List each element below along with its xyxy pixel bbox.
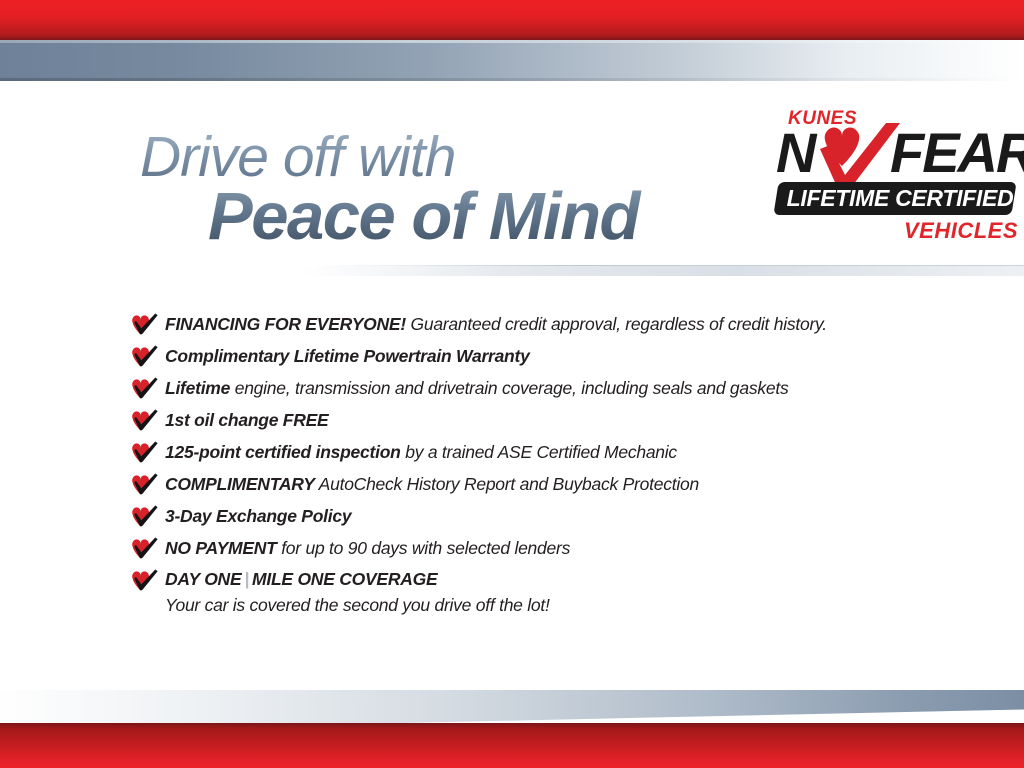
logo-certified-bar-text: LIFETIME CERTIFIED	[784, 186, 1016, 211]
heart-check-bullet-icon	[131, 345, 159, 367]
list-item-text: 3-Day Exchange Policy	[165, 506, 351, 526]
heart-check-bullet-icon	[131, 441, 159, 463]
list-item-bold: 1st oil change FREE	[165, 410, 328, 430]
list-item: NO PAYMENT for up to 90 days with select…	[131, 532, 931, 564]
top-red-band	[0, 0, 1024, 40]
list-item-bold: Complimentary Lifetime Powertrain Warran…	[165, 346, 530, 366]
heart-check-bullet-icon	[131, 569, 159, 591]
heart-check-bullet-icon	[131, 537, 159, 559]
logo-letter-n: N	[776, 125, 814, 181]
list-item: 1st oil change FREE	[131, 404, 931, 436]
logo-vehicles-text: VEHICLES	[904, 218, 1018, 244]
list-item-text: Complimentary Lifetime Powertrain Warran…	[165, 346, 530, 366]
list-item-bold: Lifetime	[165, 378, 230, 398]
list-item-text: 1st oil change FREE	[165, 410, 328, 430]
headline-line-2: Peace of Mind	[208, 182, 740, 252]
list-item-rest: by a trained ASE Certified Mechanic	[401, 442, 677, 462]
bottom-red-band	[0, 723, 1024, 768]
logo-word-fear: FEAR	[890, 125, 1024, 181]
benefits-list: FINANCING FOR EVERYONE! Guaranteed credi…	[131, 308, 931, 616]
list-item-text: COMPLIMENTARY AutoCheck History Report a…	[165, 474, 699, 494]
headline-line-1: Drive off with	[140, 128, 740, 186]
list-item-rest: Guaranteed credit approval, regardless o…	[406, 314, 827, 334]
list-item-bold: 125-point certified inspection	[165, 442, 401, 462]
heart-check-bullet-icon	[131, 377, 159, 399]
header-divider-line	[320, 265, 1024, 266]
list-item: Complimentary Lifetime Powertrain Warran…	[131, 340, 931, 372]
list-item: COMPLIMENTARY AutoCheck History Report a…	[131, 468, 931, 500]
list-item-text: DAY ONE|MILE ONE COVERAGE	[165, 569, 437, 589]
list-item-bold: COMPLIMENTARY	[165, 474, 315, 494]
list-item-text: NO PAYMENT for up to 90 days with select…	[165, 538, 570, 558]
list-item: 3-Day Exchange Policy	[131, 500, 931, 532]
list-item-text: Lifetime engine, transmission and drivet…	[165, 378, 788, 398]
heart-check-bullet-icon	[131, 473, 159, 495]
mile-one-label: MILE ONE COVERAGE	[252, 569, 437, 589]
list-item-rest: engine, transmission and drivetrain cove…	[230, 378, 788, 398]
logo-wordmark: N FEAR	[776, 125, 1020, 183]
pipe-separator: |	[241, 569, 252, 589]
list-item-bold: FINANCING FOR EVERYONE!	[165, 314, 406, 334]
list-item-bold: 3-Day Exchange Policy	[165, 506, 351, 526]
heart-check-bullet-icon	[131, 505, 159, 527]
list-item-rest: AutoCheck History Report and Buyback Pro…	[315, 474, 699, 494]
heart-check-icon	[812, 123, 904, 191]
header-divider-shade	[300, 266, 1024, 276]
top-band-highlight	[0, 40, 1024, 43]
top-band-shadow	[0, 78, 1024, 81]
list-item-rest: for up to 90 days with selected lenders	[277, 538, 571, 558]
headline-block: Drive off with Peace of Mind	[140, 128, 740, 252]
list-item: FINANCING FOR EVERYONE! Guaranteed credi…	[131, 308, 931, 340]
heart-check-bullet-icon	[131, 313, 159, 335]
top-gray-gradient-band	[0, 40, 1024, 81]
list-item-day-one: DAY ONE|MILE ONE COVERAGE	[131, 564, 931, 594]
advertisement-canvas: Drive off with Peace of Mind KUNES N FEA…	[0, 0, 1024, 768]
day-one-label: DAY ONE	[165, 569, 241, 589]
kunes-no-fear-logo: KUNES N FEAR LIFETIME CERTIFIED VEHICLES	[772, 108, 1020, 246]
list-item: 125-point certified inspection by a trai…	[131, 436, 931, 468]
list-item: Lifetime engine, transmission and drivet…	[131, 372, 931, 404]
day-one-subline: Your car is covered the second you drive…	[131, 594, 931, 616]
list-item-text: 125-point certified inspection by a trai…	[165, 442, 677, 462]
list-item-text: FINANCING FOR EVERYONE! Guaranteed credi…	[165, 314, 827, 334]
list-item-bold: NO PAYMENT	[165, 538, 277, 558]
heart-check-bullet-icon	[131, 409, 159, 431]
